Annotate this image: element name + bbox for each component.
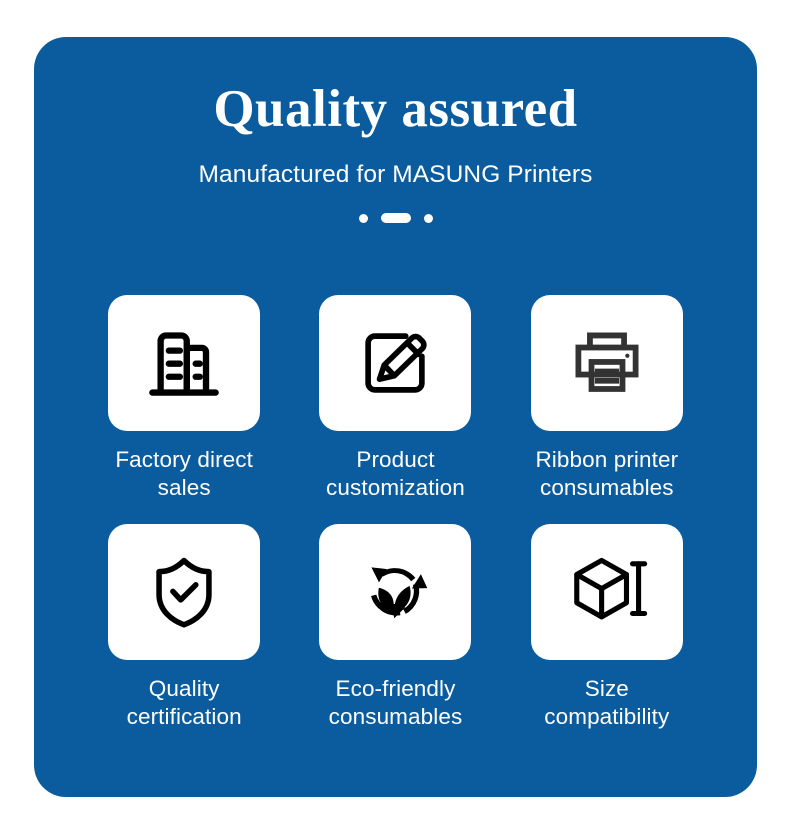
building-icon bbox=[140, 319, 228, 407]
feature-item-factory-direct-sales: Factory direct sales bbox=[84, 295, 284, 502]
feature-grid: Factory direct sales Product customizati… bbox=[84, 295, 707, 732]
edit-pencil-icon bbox=[352, 320, 438, 406]
feature-item-quality-certification: Quality certification bbox=[84, 524, 284, 731]
page-subtitle: Manufactured for MASUNG Printers bbox=[34, 138, 757, 189]
feature-icon-tile bbox=[108, 524, 260, 660]
promo-banner: Quality assured Manufactured for MASUNG … bbox=[0, 0, 790, 834]
printer-icon bbox=[565, 321, 649, 405]
feature-item-eco-friendly-consumables: Eco-friendly consumables bbox=[295, 524, 495, 731]
feature-label: Quality certification bbox=[127, 675, 242, 731]
feature-label: Ribbon printer consumables bbox=[535, 446, 678, 502]
feature-label: Size compatibility bbox=[544, 675, 669, 731]
feature-item-product-customization: Product customization bbox=[295, 295, 495, 502]
dot-right-icon bbox=[424, 214, 433, 223]
box-size-icon bbox=[564, 549, 650, 635]
feature-label: Factory direct sales bbox=[115, 446, 253, 502]
panel-header: Quality assured Manufactured for MASUNG … bbox=[34, 37, 757, 223]
feature-panel: Quality assured Manufactured for MASUNG … bbox=[34, 37, 757, 797]
feature-icon-tile bbox=[319, 295, 471, 431]
feature-icon-tile bbox=[319, 524, 471, 660]
feature-label: Eco-friendly consumables bbox=[329, 675, 463, 731]
recycle-leaf-icon bbox=[354, 551, 436, 633]
pill-center-icon bbox=[381, 213, 411, 223]
feature-icon-tile bbox=[531, 524, 683, 660]
feature-item-ribbon-printer-consumables: Ribbon printer consumables bbox=[507, 295, 707, 502]
page-title: Quality assured bbox=[34, 37, 757, 138]
decorative-separator bbox=[34, 189, 757, 223]
feature-item-size-compatibility: Size compatibility bbox=[507, 524, 707, 731]
dot-left-icon bbox=[359, 214, 368, 223]
shield-check-icon bbox=[142, 550, 226, 634]
feature-label: Product customization bbox=[326, 446, 465, 502]
feature-icon-tile bbox=[108, 295, 260, 431]
feature-icon-tile bbox=[531, 295, 683, 431]
